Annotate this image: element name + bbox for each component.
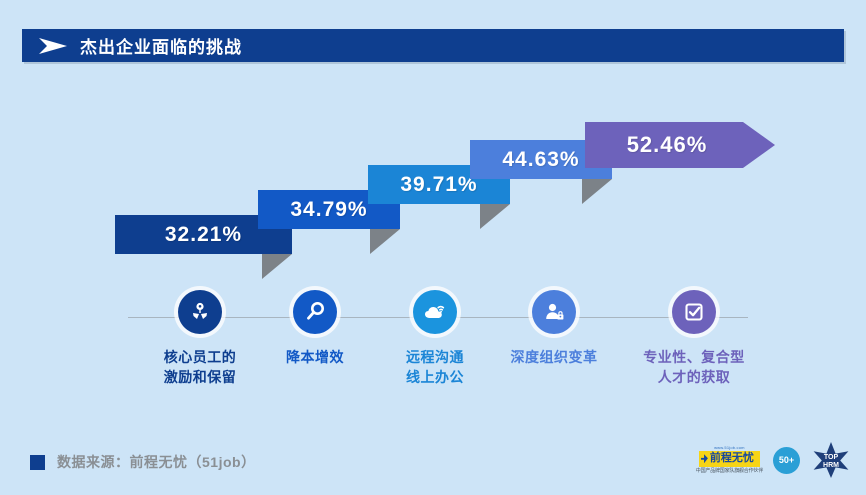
- logo-51job-wordmark: 前程无忧: [699, 451, 760, 467]
- person-lock-icon: [532, 290, 576, 334]
- ribbon-shadow: [370, 229, 400, 254]
- logo-51job: www.51job.com 前程无忧 中国产品牌国家队旗舰合作伙伴: [696, 446, 763, 474]
- legend-item-talent-acquisition: 专业性、复合型 人才的获取: [619, 290, 769, 388]
- logo-circle-badge: 50+: [773, 447, 800, 474]
- legend-item-org-change: 深度组织变革: [479, 290, 629, 367]
- legend-item-label: 深度组织变革: [511, 347, 598, 367]
- legend-item-label: 核心员工的 激励和保留: [164, 347, 237, 388]
- staircase-chart: 32.21% 34.79% 39.71% 44.63% 52.46%: [0, 0, 866, 290]
- ribbon-shadow: [262, 254, 292, 279]
- ribbon-shadow: [480, 204, 510, 229]
- employee-retention-pin-icon: [178, 290, 222, 334]
- logo-51job-url: www.51job.com: [714, 446, 745, 450]
- ribbon-value-label: 52.46%: [585, 122, 775, 168]
- logo-51job-tagline: 中国产品牌国家队旗舰合作伙伴: [696, 469, 763, 474]
- ribbon-shadow: [582, 179, 612, 204]
- legend-item-label: 降本增效: [286, 347, 344, 367]
- slide-root: 杰出企业面临的挑战 32.21% 34.79% 39.71% 44.63% 52…: [0, 0, 866, 495]
- ribbon-bar-5: 52.46%: [585, 122, 775, 168]
- data-source-text: 数据来源：前程无忧（51job）: [57, 452, 256, 472]
- logo-top-hrm-text: TOP HRM: [810, 454, 852, 470]
- logo-group: www.51job.com 前程无忧 中国产品牌国家队旗舰合作伙伴 50+ TO…: [696, 441, 852, 479]
- logo-top-hrm-star: TOP HRM: [810, 441, 852, 479]
- cloud-wifi-icon: [413, 290, 457, 334]
- magnifier-key-icon: [293, 290, 337, 334]
- legend-item-label: 专业性、复合型 人才的获取: [643, 347, 745, 388]
- icon-legend-row: 核心员工的 激励和保留 降本增效 远程沟通 线上办: [0, 290, 866, 400]
- square-bullet-icon: [30, 455, 45, 470]
- legend-item-label: 远程沟通 线上办公: [406, 347, 464, 388]
- checkbox-checked-icon: [672, 290, 716, 334]
- data-source-note: 数据来源：前程无忧（51job）: [30, 452, 256, 472]
